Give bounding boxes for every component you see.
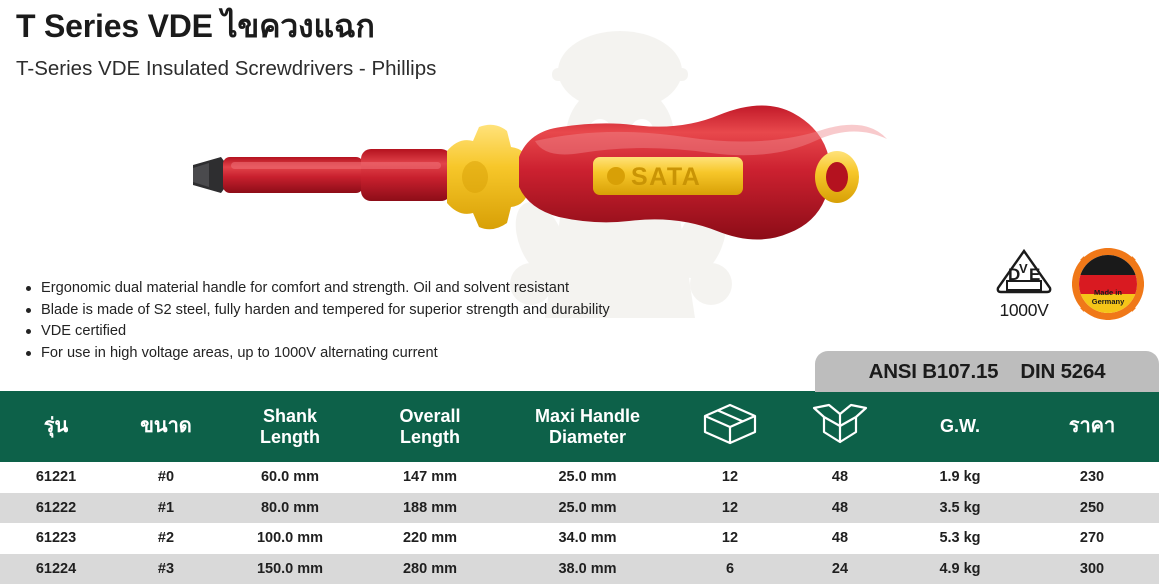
vde-certification-mark: D V E 1000V bbox=[995, 248, 1053, 321]
svg-text:V: V bbox=[1019, 261, 1028, 276]
maxi-line1: Maxi Handle bbox=[500, 406, 675, 427]
standards-strip: ANSI B107.15 DIN 5264 bbox=[815, 351, 1159, 392]
cell-inner: 12 bbox=[675, 462, 785, 493]
cell-inner: 12 bbox=[675, 523, 785, 554]
cell-shank: 150.0 mm bbox=[220, 554, 360, 584]
standard-ansi: ANSI B107.15 bbox=[869, 360, 999, 384]
bullet-icon bbox=[26, 286, 31, 291]
table-header-row: รุ่น ขนาด Shank Length Overall Length Ma… bbox=[0, 391, 1159, 462]
page-header: T Series VDE ไขควงแฉก T-Series VDE Insul… bbox=[16, 6, 436, 83]
column-header-inner-pack bbox=[675, 391, 785, 462]
svg-text:SATA: SATA bbox=[631, 163, 701, 191]
vde-voltage-label: 1000V bbox=[995, 300, 1053, 321]
column-header-shank: Shank Length bbox=[220, 391, 360, 462]
maxi-line2: Diameter bbox=[500, 427, 675, 448]
cell-model: 61222 bbox=[0, 493, 112, 524]
cell-outer: 48 bbox=[785, 493, 895, 524]
cell-maxi: 25.0 mm bbox=[500, 493, 675, 524]
cell-gw: 5.3 kg bbox=[895, 523, 1025, 554]
closed-box-icon bbox=[702, 402, 758, 446]
cell-maxi: 25.0 mm bbox=[500, 462, 675, 493]
screwdriver-tip bbox=[193, 157, 227, 193]
bullet-icon bbox=[26, 351, 31, 356]
cell-shank: 60.0 mm bbox=[220, 462, 360, 493]
standard-din: DIN 5264 bbox=[1020, 360, 1105, 384]
feature-item: VDE certified bbox=[26, 321, 610, 343]
column-header-outer-pack bbox=[785, 391, 895, 462]
feature-item: Ergonomic dual material handle for comfo… bbox=[26, 278, 610, 300]
feature-text: Blade is made of S2 steel, fully harden … bbox=[41, 302, 610, 318]
cell-size: #3 bbox=[112, 554, 220, 584]
cell-maxi: 34.0 mm bbox=[500, 523, 675, 554]
feature-text: VDE certified bbox=[41, 323, 126, 339]
sata-brand-badge: SATA bbox=[593, 157, 743, 195]
shank-line1: Shank bbox=[220, 406, 360, 427]
cell-gw: 3.5 kg bbox=[895, 493, 1025, 524]
bullet-icon bbox=[26, 329, 31, 334]
cell-gw: 4.9 kg bbox=[895, 554, 1025, 584]
cell-size: #0 bbox=[112, 462, 220, 493]
cell-size: #1 bbox=[112, 493, 220, 524]
cell-size: #2 bbox=[112, 523, 220, 554]
cell-price: 300 bbox=[1025, 554, 1159, 584]
cell-shank: 80.0 mm bbox=[220, 493, 360, 524]
column-header-overall: Overall Length bbox=[360, 391, 500, 462]
cell-maxi: 38.0 mm bbox=[500, 554, 675, 584]
cell-price: 250 bbox=[1025, 493, 1159, 524]
table-row: 61222 #1 80.0 mm 188 mm 25.0 mm 12 48 3.… bbox=[0, 493, 1159, 524]
cell-model: 61224 bbox=[0, 554, 112, 584]
vde-triangle-icon: D V E bbox=[995, 248, 1053, 296]
cell-model: 61223 bbox=[0, 523, 112, 554]
feature-item: Blade is made of S2 steel, fully harden … bbox=[26, 300, 610, 322]
feature-list: Ergonomic dual material handle for comfo… bbox=[26, 278, 610, 364]
feature-text: Ergonomic dual material handle for comfo… bbox=[41, 280, 569, 296]
product-image-screwdriver: SATA bbox=[175, 105, 935, 245]
table-row: 61223 #2 100.0 mm 220 mm 34.0 mm 12 48 5… bbox=[0, 523, 1159, 554]
overall-line2: Length bbox=[360, 427, 500, 448]
column-header-price: ราคา bbox=[1025, 391, 1159, 462]
germany-label: Germany bbox=[1092, 297, 1125, 306]
cell-inner: 6 bbox=[675, 554, 785, 584]
cell-outer: 48 bbox=[785, 523, 895, 554]
column-header-size: ขนาด bbox=[112, 391, 220, 462]
shank-line2: Length bbox=[220, 427, 360, 448]
open-box-icon bbox=[812, 402, 868, 446]
cell-model: 61221 bbox=[0, 462, 112, 493]
page-title: T Series VDE ไขควงแฉก bbox=[16, 6, 436, 46]
feature-text: For use in high voltage areas, up to 100… bbox=[41, 345, 438, 361]
cell-outer: 48 bbox=[785, 462, 895, 493]
cell-overall: 220 mm bbox=[360, 523, 500, 554]
made-in-label: Made in bbox=[1094, 288, 1122, 297]
cell-gw: 1.9 kg bbox=[895, 462, 1025, 493]
cell-shank: 100.0 mm bbox=[220, 523, 360, 554]
table-row: 61221 #0 60.0 mm 147 mm 25.0 mm 12 48 1.… bbox=[0, 462, 1159, 493]
cell-overall: 188 mm bbox=[360, 493, 500, 524]
column-header-model: รุ่น bbox=[0, 391, 112, 462]
cell-overall: 280 mm bbox=[360, 554, 500, 584]
column-header-maxi-handle-diameter: Maxi Handle Diameter bbox=[500, 391, 675, 462]
certification-marks: D V E 1000V Made in Germany bbox=[995, 247, 1145, 321]
screwdriver-shaft bbox=[223, 149, 451, 201]
overall-line1: Overall bbox=[360, 406, 500, 427]
cell-overall: 147 mm bbox=[360, 462, 500, 493]
svg-text:E: E bbox=[1029, 265, 1040, 284]
screwdriver-collar bbox=[447, 125, 529, 230]
cell-outer: 24 bbox=[785, 554, 895, 584]
cell-inner: 12 bbox=[675, 493, 785, 524]
page-subtitle: T-Series VDE Insulated Screwdrivers - Ph… bbox=[16, 55, 436, 83]
cell-price: 230 bbox=[1025, 462, 1159, 493]
bullet-icon bbox=[26, 308, 31, 313]
column-header-gross-weight: G.W. bbox=[895, 391, 1025, 462]
table-row: 61224 #3 150.0 mm 280 mm 38.0 mm 6 24 4.… bbox=[0, 554, 1159, 584]
cell-price: 270 bbox=[1025, 523, 1159, 554]
specification-table: รุ่น ขนาด Shank Length Overall Length Ma… bbox=[0, 391, 1159, 584]
made-in-germany-badge-icon: Made in Germany bbox=[1071, 247, 1145, 321]
feature-item: For use in high voltage areas, up to 100… bbox=[26, 343, 610, 365]
